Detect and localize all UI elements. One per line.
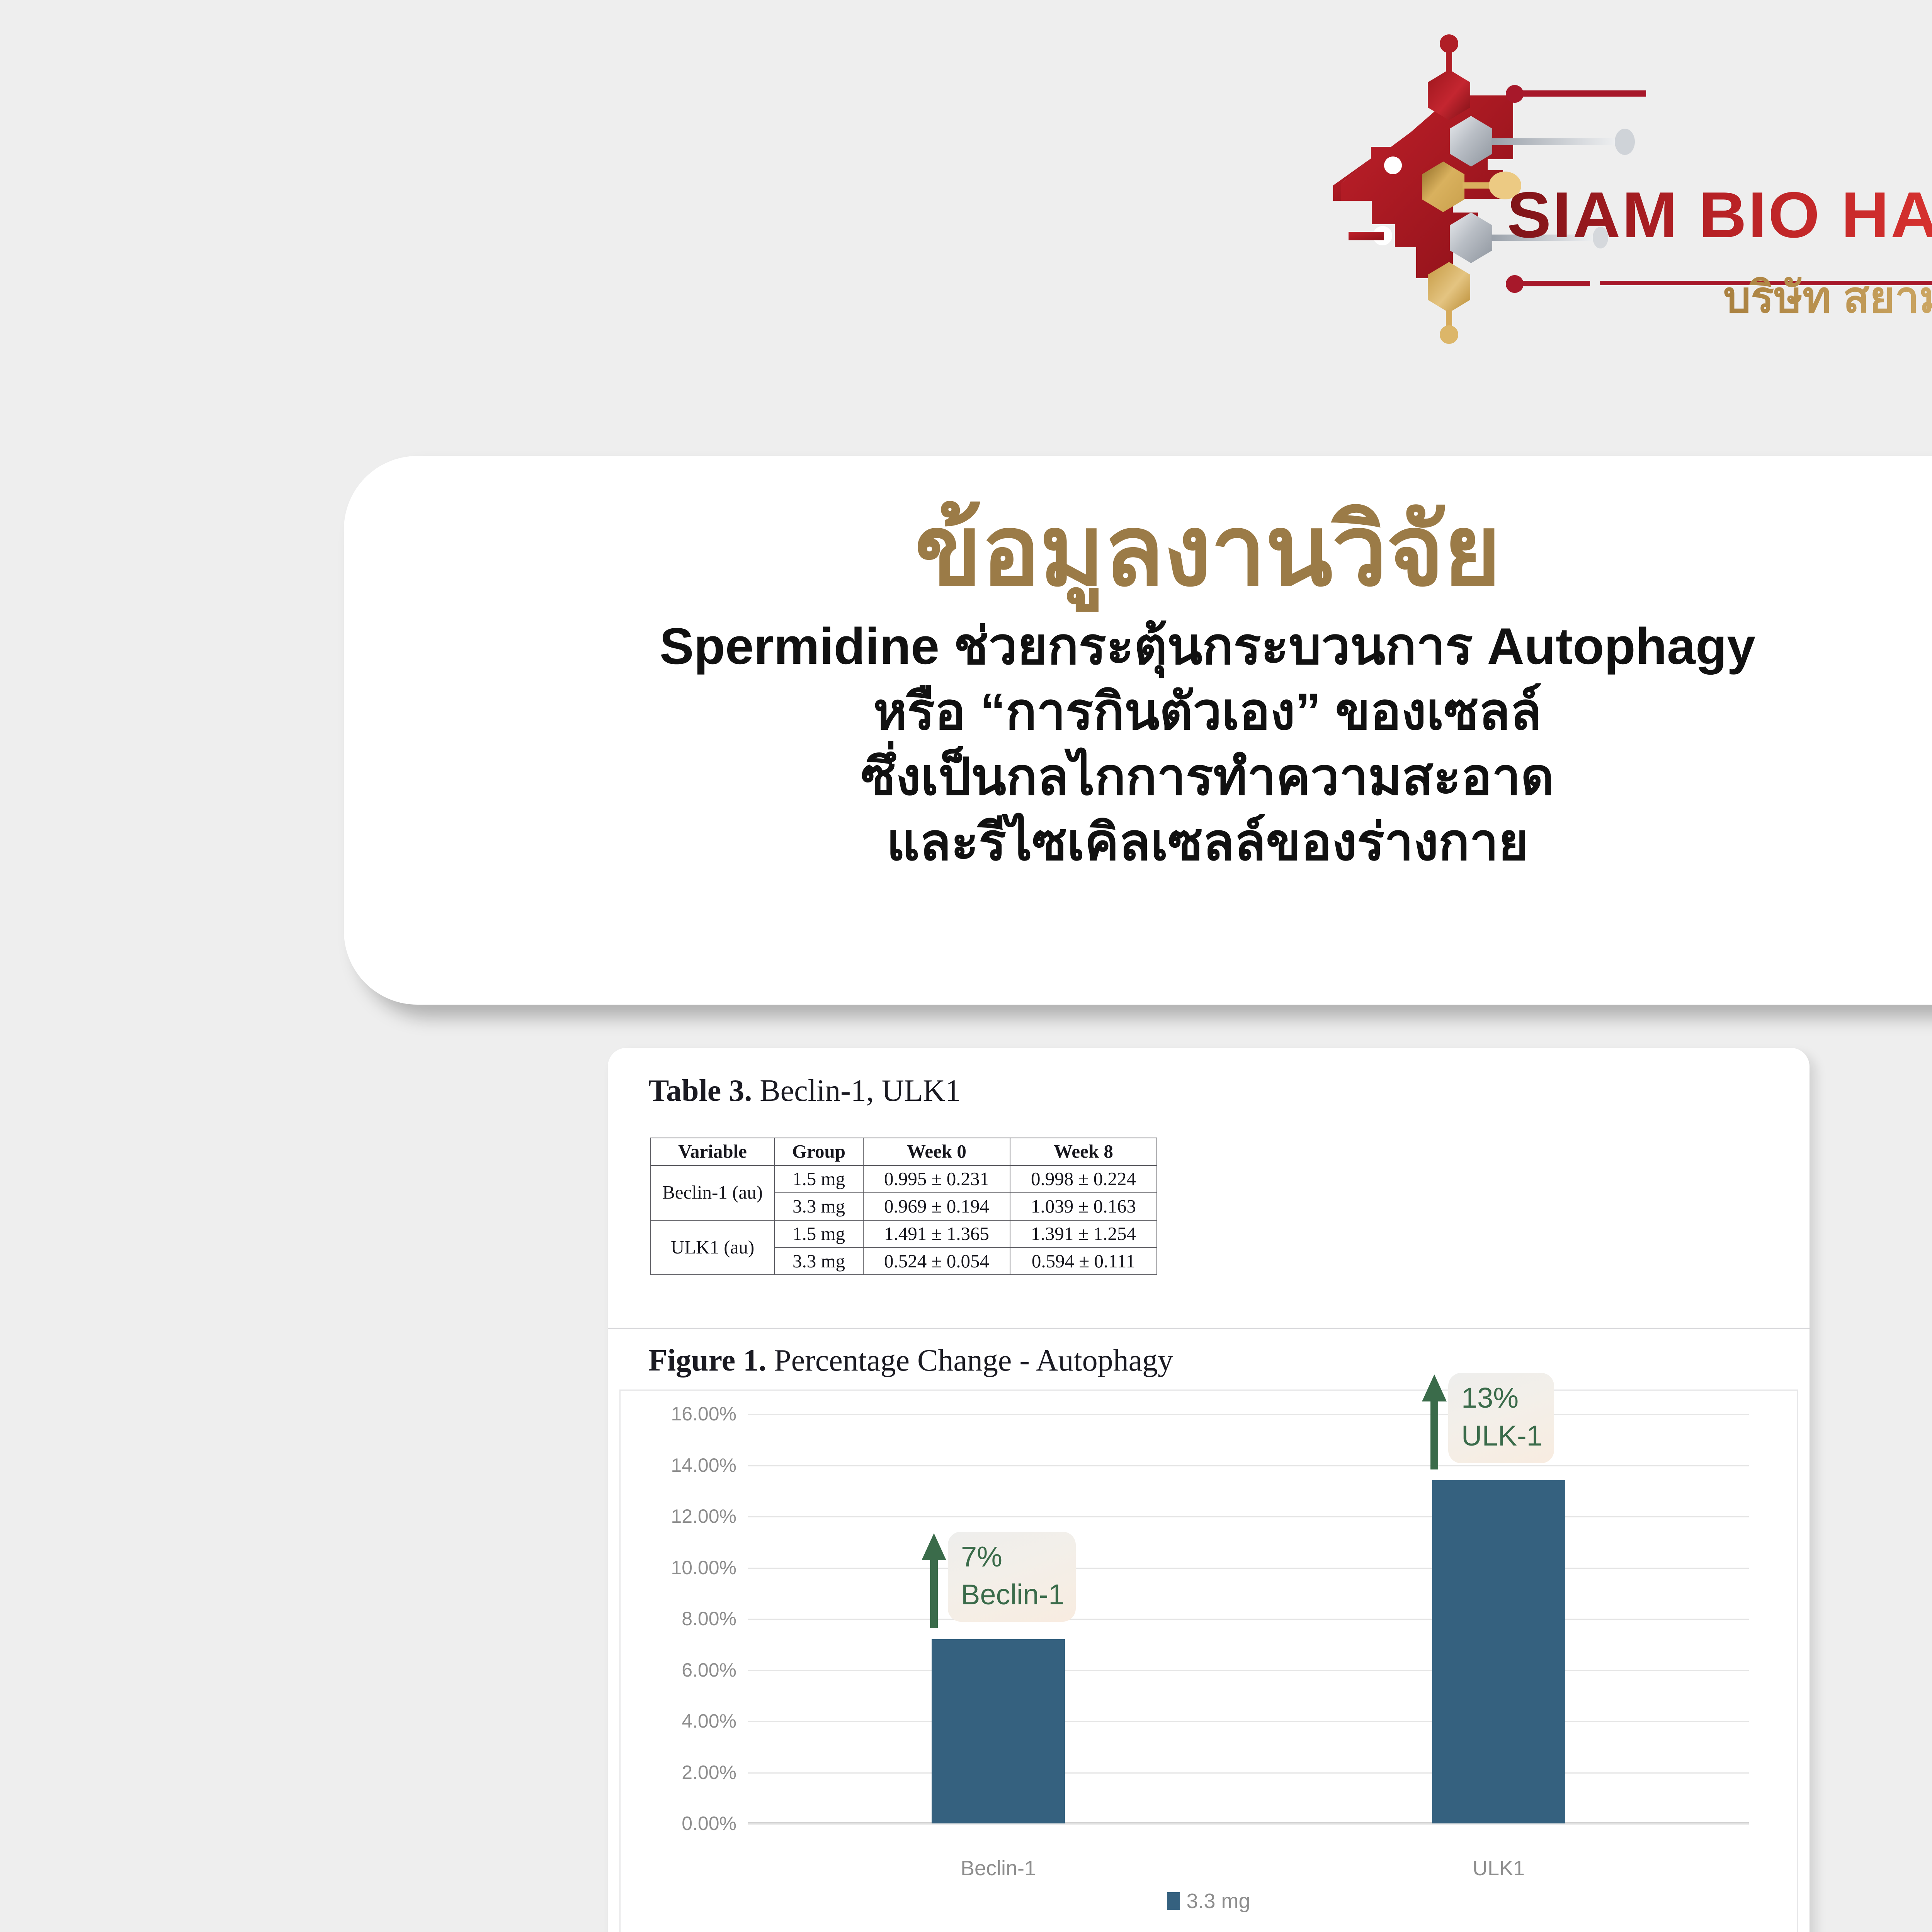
company-logo: SIAM BIO HACKERS CO.,LTD. บริษัท สยาม ไบ…: [1325, 31, 1932, 348]
table-cell-week0: 0.524 ± 0.054: [863, 1248, 1010, 1275]
figure-caption: Figure 1. Percentage Change - Autophagy: [648, 1343, 1173, 1378]
table-col-variable: Variable: [651, 1138, 774, 1165]
table-col-week8: Week 8: [1010, 1138, 1157, 1165]
y-axis-tick-label: 2.00%: [682, 1761, 736, 1784]
table-cell-week0: 0.969 ± 0.194: [863, 1193, 1010, 1220]
annotation-bubble: 13%ULK-1: [1448, 1373, 1554, 1463]
table-cell-week8: 1.039 ± 0.163: [1010, 1193, 1157, 1220]
table-col-group: Group: [774, 1138, 863, 1165]
subtitle-block: Spermidine ช่วยกระตุ้นกระบวนการ Autophag…: [344, 614, 1932, 875]
table-cell-week0: 0.995 ± 0.231: [863, 1165, 1010, 1193]
chart-bar-ulk1: [1432, 1480, 1565, 1823]
x-axis-tick-label: Beclin-1: [961, 1856, 1036, 1880]
table-cell-week8: 0.998 ± 0.224: [1010, 1165, 1157, 1193]
y-axis-tick-label: 14.00%: [671, 1454, 736, 1476]
chart-annotation-beclin-1: 7%Beclin-1: [920, 1532, 1076, 1628]
table-header-row: Variable Group Week 0 Week 8: [651, 1138, 1157, 1165]
table-cell-week8: 1.391 ± 1.254: [1010, 1220, 1157, 1248]
chart-gridline: [748, 1619, 1749, 1620]
logo-company-name-th: บริษัท สยาม ไบโอแฮ็คเกอร์ส จำกัด: [1723, 263, 1932, 332]
y-axis-tick-label: 6.00%: [682, 1659, 736, 1681]
chart-gridline: [748, 1414, 1749, 1415]
legend-label-3-3mg: 3.3 mg: [1186, 1889, 1250, 1913]
table-cell-week0: 1.491 ± 1.365: [863, 1220, 1010, 1248]
y-axis-tick-label: 12.00%: [671, 1505, 736, 1527]
y-axis-tick-label: 4.00%: [682, 1710, 736, 1732]
annotation-percent: 7%: [961, 1541, 1002, 1573]
chart-legend: 3.3 mg: [621, 1889, 1797, 1913]
figure-caption-text: Percentage Change - Autophagy: [774, 1344, 1173, 1378]
subtitle-line-2: หรือ “การกินตัวเอง” ของเซลล์: [383, 679, 1932, 745]
subtitle-line-1: Spermidine ช่วยกระตุ้นกระบวนการ Autophag…: [383, 614, 1932, 679]
table-cell-variable: Beclin-1 (au): [651, 1165, 774, 1220]
table-cell-group: 3.3 mg: [774, 1248, 863, 1275]
subtitle-line-3: ซึ่งเป็นกลไกการทำความสะอาด: [383, 745, 1932, 810]
table-cell-group: 3.3 mg: [774, 1193, 863, 1220]
table-cell-variable: ULK1 (au): [651, 1220, 774, 1275]
chart-gridline: [748, 1465, 1749, 1466]
chart-gridline: [748, 1670, 1749, 1671]
up-arrow-icon: [920, 1532, 948, 1628]
x-axis-line: [748, 1822, 1749, 1823]
chart-plot-area: 16.00%14.00%12.00%10.00%8.00%6.00%4.00%2…: [748, 1414, 1749, 1823]
bar-chart: 16.00%14.00%12.00%10.00%8.00%6.00%4.00%2…: [619, 1389, 1798, 1932]
chart-bar-beclin-1: [932, 1639, 1065, 1823]
annotation-bubble: 7%Beclin-1: [948, 1532, 1076, 1622]
table-caption: Table 3. Beclin-1, ULK1: [648, 1073, 961, 1109]
x-axis-tick-label: ULK1: [1473, 1856, 1525, 1880]
table-label: Table 3.: [648, 1074, 752, 1108]
table-caption-text: Beclin-1, ULK1: [760, 1074, 961, 1108]
y-axis-tick-label: 10.00%: [671, 1556, 736, 1579]
y-axis-tick-label: 0.00%: [682, 1812, 736, 1835]
up-arrow-icon: [1420, 1373, 1448, 1469]
subtitle-line-4: และรีไซเคิลเซลล์ของร่างกาย: [383, 810, 1932, 875]
y-axis-tick-label: 8.00%: [682, 1607, 736, 1630]
chart-gridline: [748, 1568, 1749, 1569]
annotation-label: ULK-1: [1461, 1420, 1543, 1452]
research-figure-card: Table 3. Beclin-1, ULK1 Variable Group W…: [608, 1048, 1810, 1932]
chart-annotation-ulk-1: 13%ULK-1: [1420, 1373, 1554, 1469]
section-divider: [608, 1328, 1810, 1329]
page-title: ข้อมูลงานวิจัย: [344, 456, 1932, 600]
legend-swatch-3-3mg: [1167, 1892, 1180, 1910]
figure-label: Figure 1.: [648, 1344, 766, 1378]
table-cell-week8: 0.594 ± 0.111: [1010, 1248, 1157, 1275]
table-col-week0: Week 0: [863, 1138, 1010, 1165]
y-axis-tick-label: 16.00%: [671, 1403, 736, 1425]
results-table: Variable Group Week 0 Week 8 Beclin-1 (a…: [650, 1138, 1157, 1275]
chart-gridline: [748, 1772, 1749, 1774]
chart-gridline: [748, 1823, 1749, 1825]
annotation-label: Beclin-1: [961, 1578, 1064, 1611]
table-row: ULK1 (au) 1.5 mg 1.491 ± 1.365 1.391 ± 1…: [651, 1220, 1157, 1248]
annotation-percent: 13%: [1461, 1382, 1519, 1414]
title-card: ข้อมูลงานวิจัย Spermidine ช่วยกระตุ้นกระ…: [344, 456, 1932, 1005]
table-cell-group: 1.5 mg: [774, 1165, 863, 1193]
logo-company-name-en: SIAM BIO HACKERS CO.,LTD.: [1507, 178, 1932, 252]
chart-gridline: [748, 1721, 1749, 1722]
table-row: Beclin-1 (au) 1.5 mg 0.995 ± 0.231 0.998…: [651, 1165, 1157, 1193]
table-cell-group: 1.5 mg: [774, 1220, 863, 1248]
chart-gridline: [748, 1516, 1749, 1517]
